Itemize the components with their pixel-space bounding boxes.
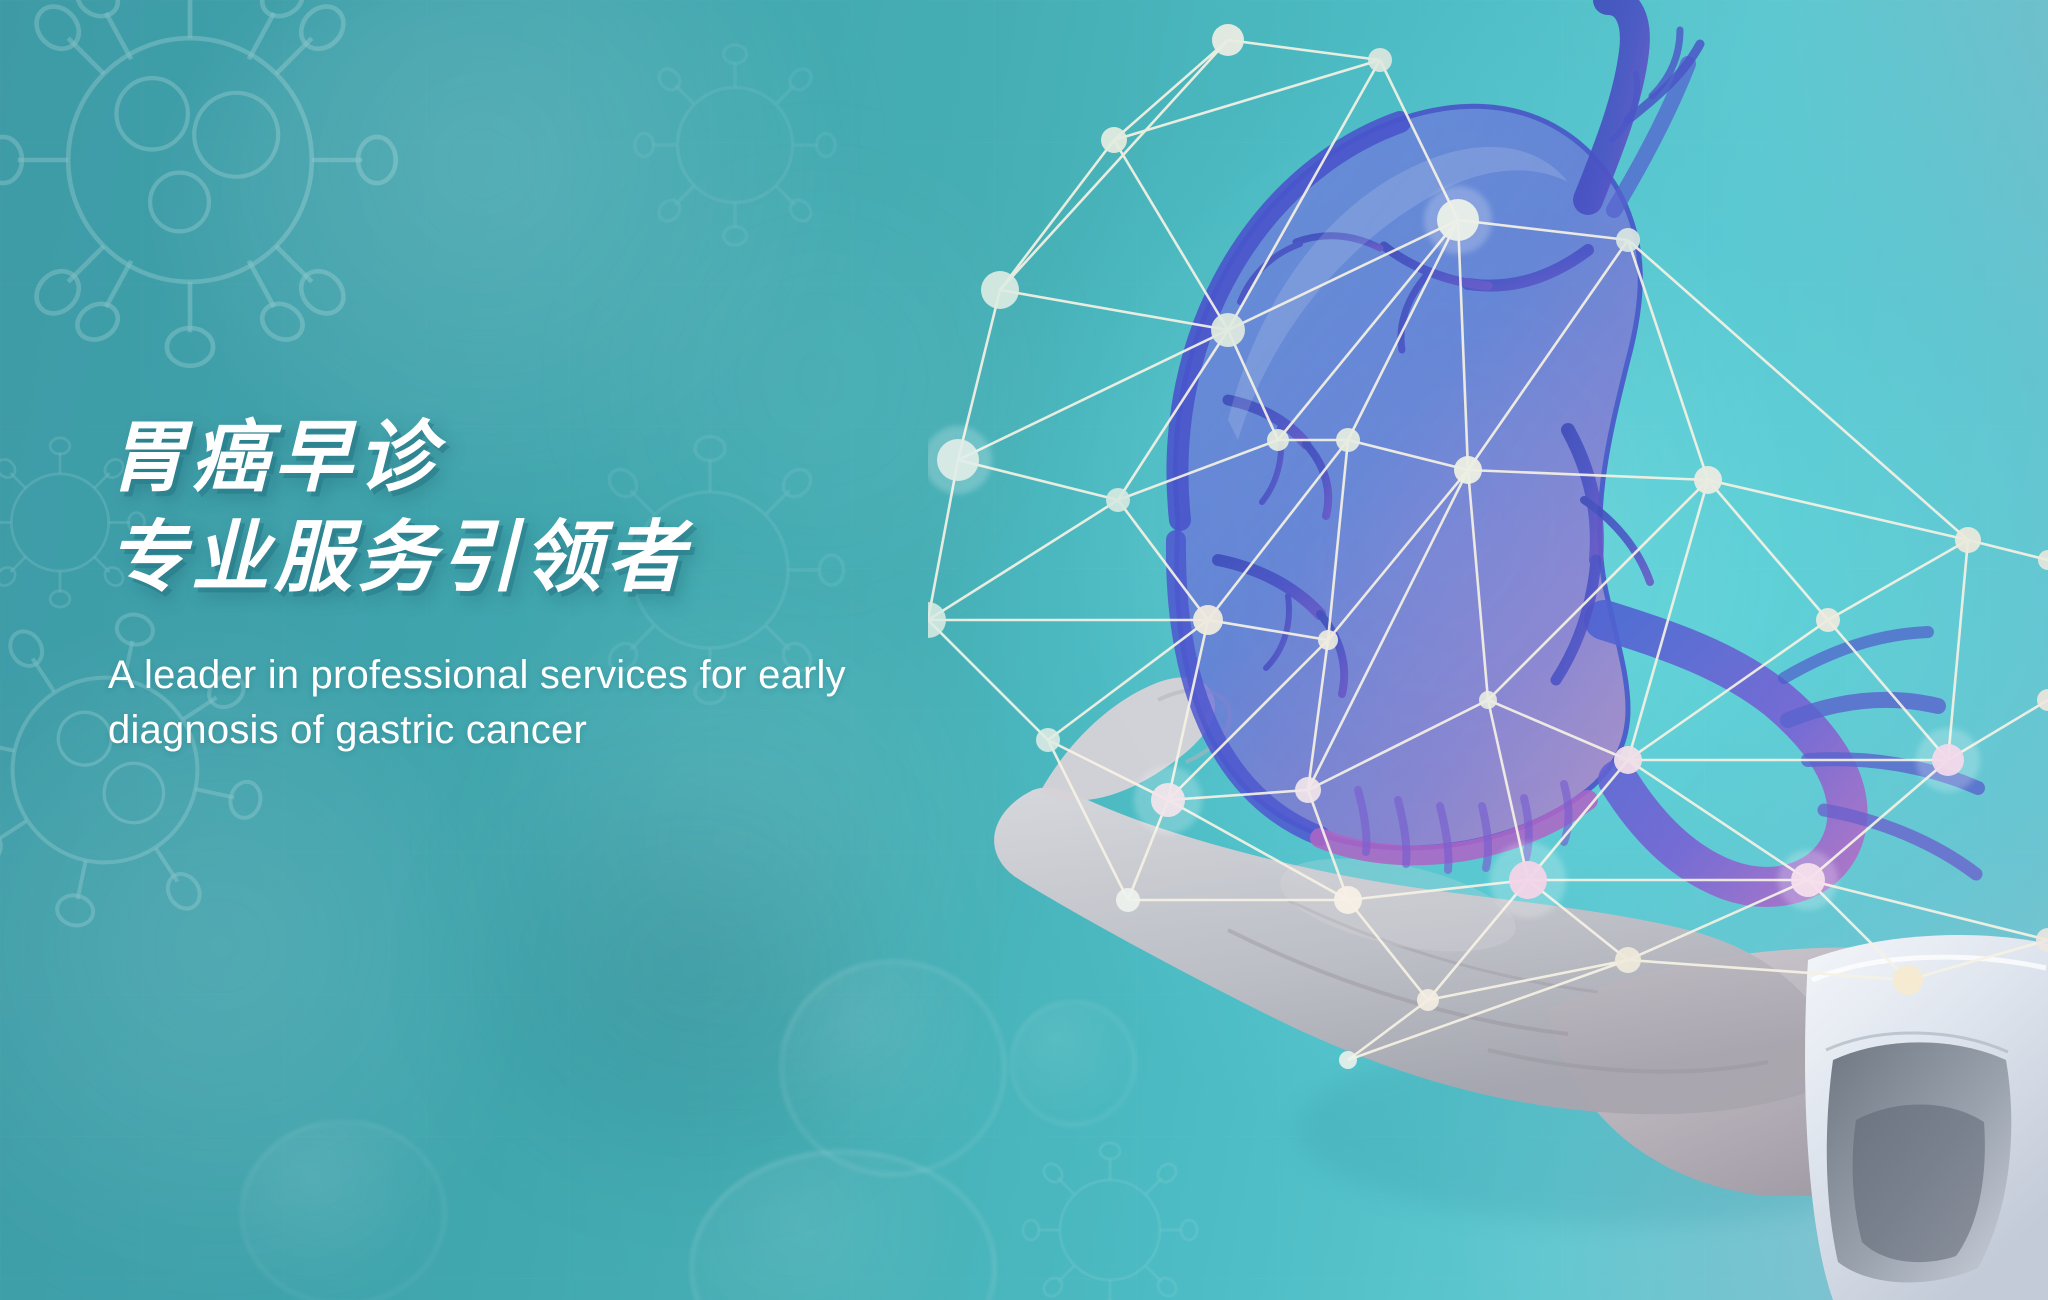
subtitle-block: A leader in professional services for ea… [108,648,1108,758]
dark-smear [380,760,1000,1180]
headline-line-1: 胃癌早诊 [108,418,1108,496]
cell-bubble-outline [240,1120,446,1300]
virus-cell-outline [0,0,420,370]
gastric-cancer-banner: 胃癌早诊 专业服务引领者 A leader in professional se… [0,0,2048,1300]
headline-line-2: 专业服务引领者 [108,518,1108,596]
virus-cell-outline [620,30,850,260]
subtitle-line-2: diagnosis of gastric cancer [108,703,1108,758]
headline-copy-block: 胃癌早诊 专业服务引领者 A leader in professional se… [108,418,1108,758]
lab-coat-sleeve [1805,935,2048,1300]
subtitle-line-1: A leader in professional services for ea… [108,648,1108,703]
